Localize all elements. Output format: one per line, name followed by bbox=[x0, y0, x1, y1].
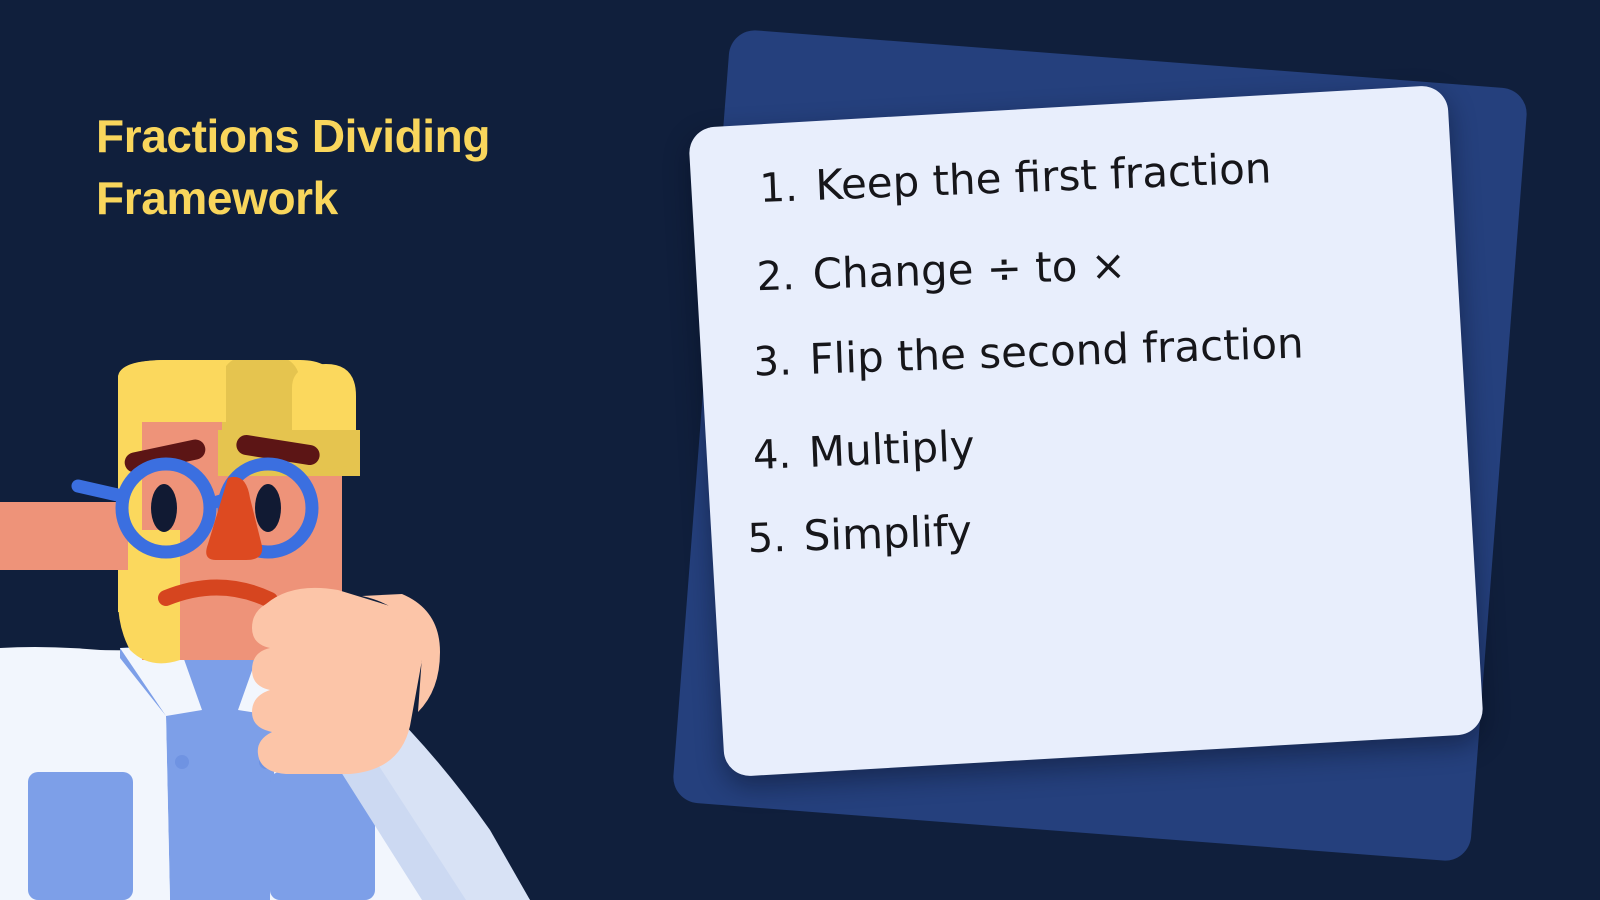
list-item-number: 5. bbox=[747, 516, 804, 560]
list-item-number: 1. bbox=[759, 166, 817, 211]
list-item-number: 2. bbox=[756, 254, 813, 298]
page-title: Fractions Dividing Framework bbox=[96, 105, 616, 230]
eye-right bbox=[255, 484, 281, 532]
character-illustration bbox=[0, 360, 610, 900]
shirt-button bbox=[175, 755, 189, 769]
list-item: 1. Keep the first fraction bbox=[759, 140, 1440, 211]
eye-left bbox=[151, 484, 177, 532]
list-item-label: Flip the second fraction bbox=[809, 321, 1304, 382]
list-item: 2. Change ÷ to × bbox=[756, 234, 1437, 299]
list-item-label: Keep the first fraction bbox=[815, 146, 1273, 208]
list-item-number: 3. bbox=[753, 340, 810, 384]
list-item: 5. Simplify bbox=[747, 495, 1428, 561]
slide-canvas: Fractions Dividing Framework 1. Keep the… bbox=[0, 0, 1600, 900]
list-item-number: 4. bbox=[752, 432, 810, 477]
coat-pocket-left bbox=[28, 772, 133, 900]
steps-list: 1. Keep the first fraction 2. Change ÷ t… bbox=[749, 134, 1453, 615]
note-card: 1. Keep the first fraction 2. Change ÷ t… bbox=[688, 85, 1484, 778]
list-item: 3. Flip the second fraction bbox=[753, 317, 1434, 384]
list-item: 4. Multiply bbox=[752, 405, 1433, 477]
list-item-label: Simplify bbox=[803, 509, 972, 559]
list-item-label: Change ÷ to × bbox=[812, 243, 1127, 297]
list-item-label: Multiply bbox=[808, 424, 976, 475]
